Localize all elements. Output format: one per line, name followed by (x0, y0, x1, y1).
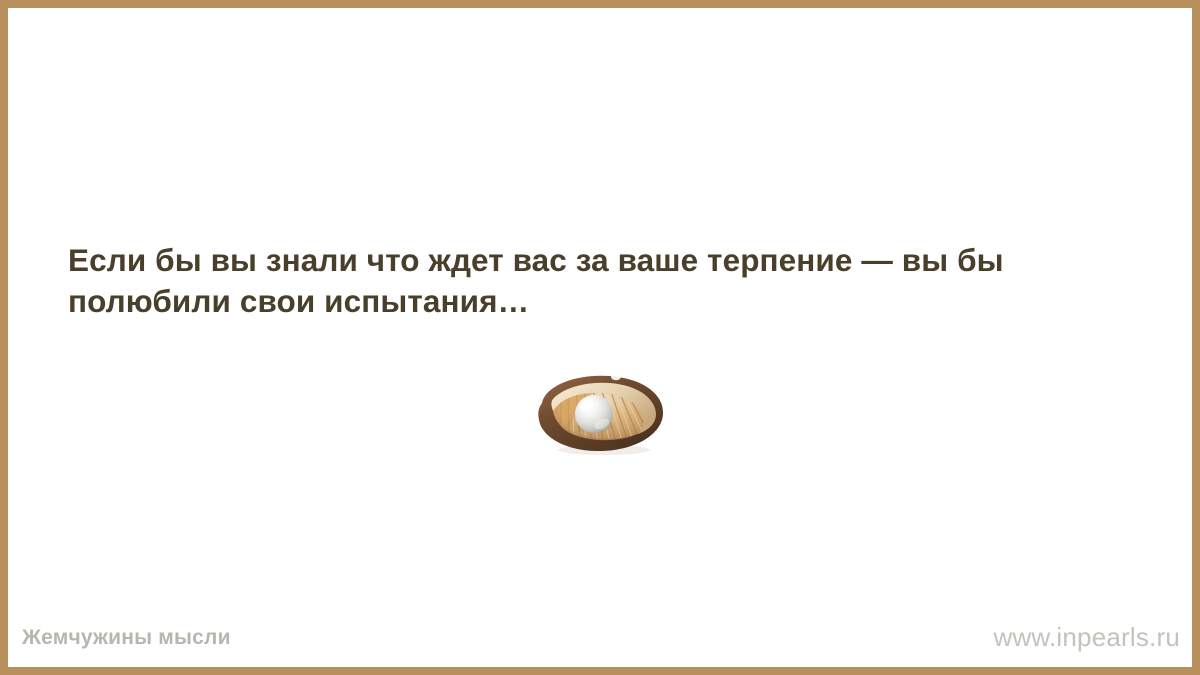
ground-shadow (558, 445, 650, 455)
pearl (575, 395, 613, 433)
quote-text: Если бы вы знали что ждет вас за ваше те… (68, 240, 1148, 322)
site-name-label: Жемчужины мысли (22, 626, 231, 650)
seashell-with-pearl-icon (532, 370, 668, 456)
site-url-link[interactable]: www.inpearls.ru (993, 622, 1180, 653)
quote-card: Если бы вы знали что ждет вас за ваше те… (0, 0, 1200, 675)
sparkle-highlight (611, 374, 621, 380)
illustration-container (8, 370, 1192, 456)
